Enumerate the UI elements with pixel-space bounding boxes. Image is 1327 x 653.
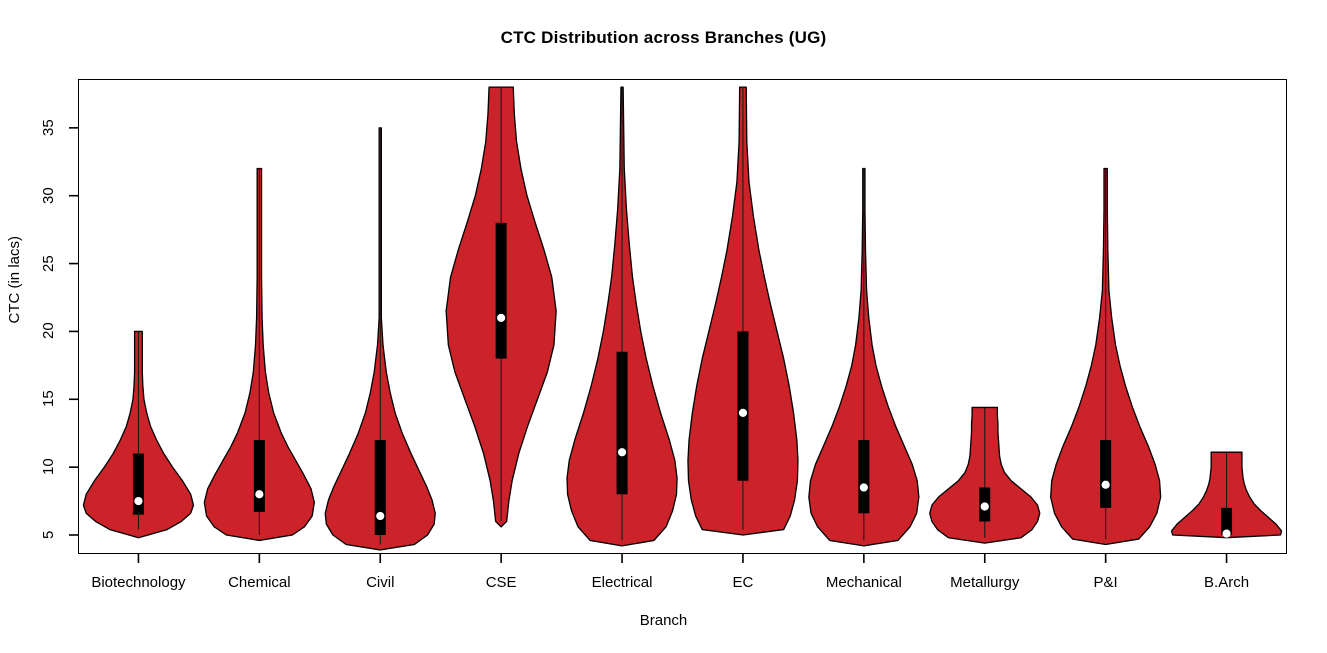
plot-frame bbox=[78, 79, 1287, 554]
y-tick-label: 35 bbox=[40, 114, 64, 142]
violin-chart: CTC Distribution across Branches (UG) CT… bbox=[0, 0, 1327, 653]
y-tick-label: 15 bbox=[40, 385, 64, 413]
y-tick-label: 10 bbox=[40, 453, 64, 481]
x-tick-label-b-arch: B.Arch bbox=[1137, 574, 1317, 591]
y-tick-label: 25 bbox=[40, 250, 64, 278]
x-axis-label: Branch bbox=[0, 612, 1327, 629]
y-tick-label: 5 bbox=[40, 521, 64, 549]
y-tick-label: 20 bbox=[40, 317, 64, 345]
y-tick-label: 30 bbox=[40, 182, 64, 210]
